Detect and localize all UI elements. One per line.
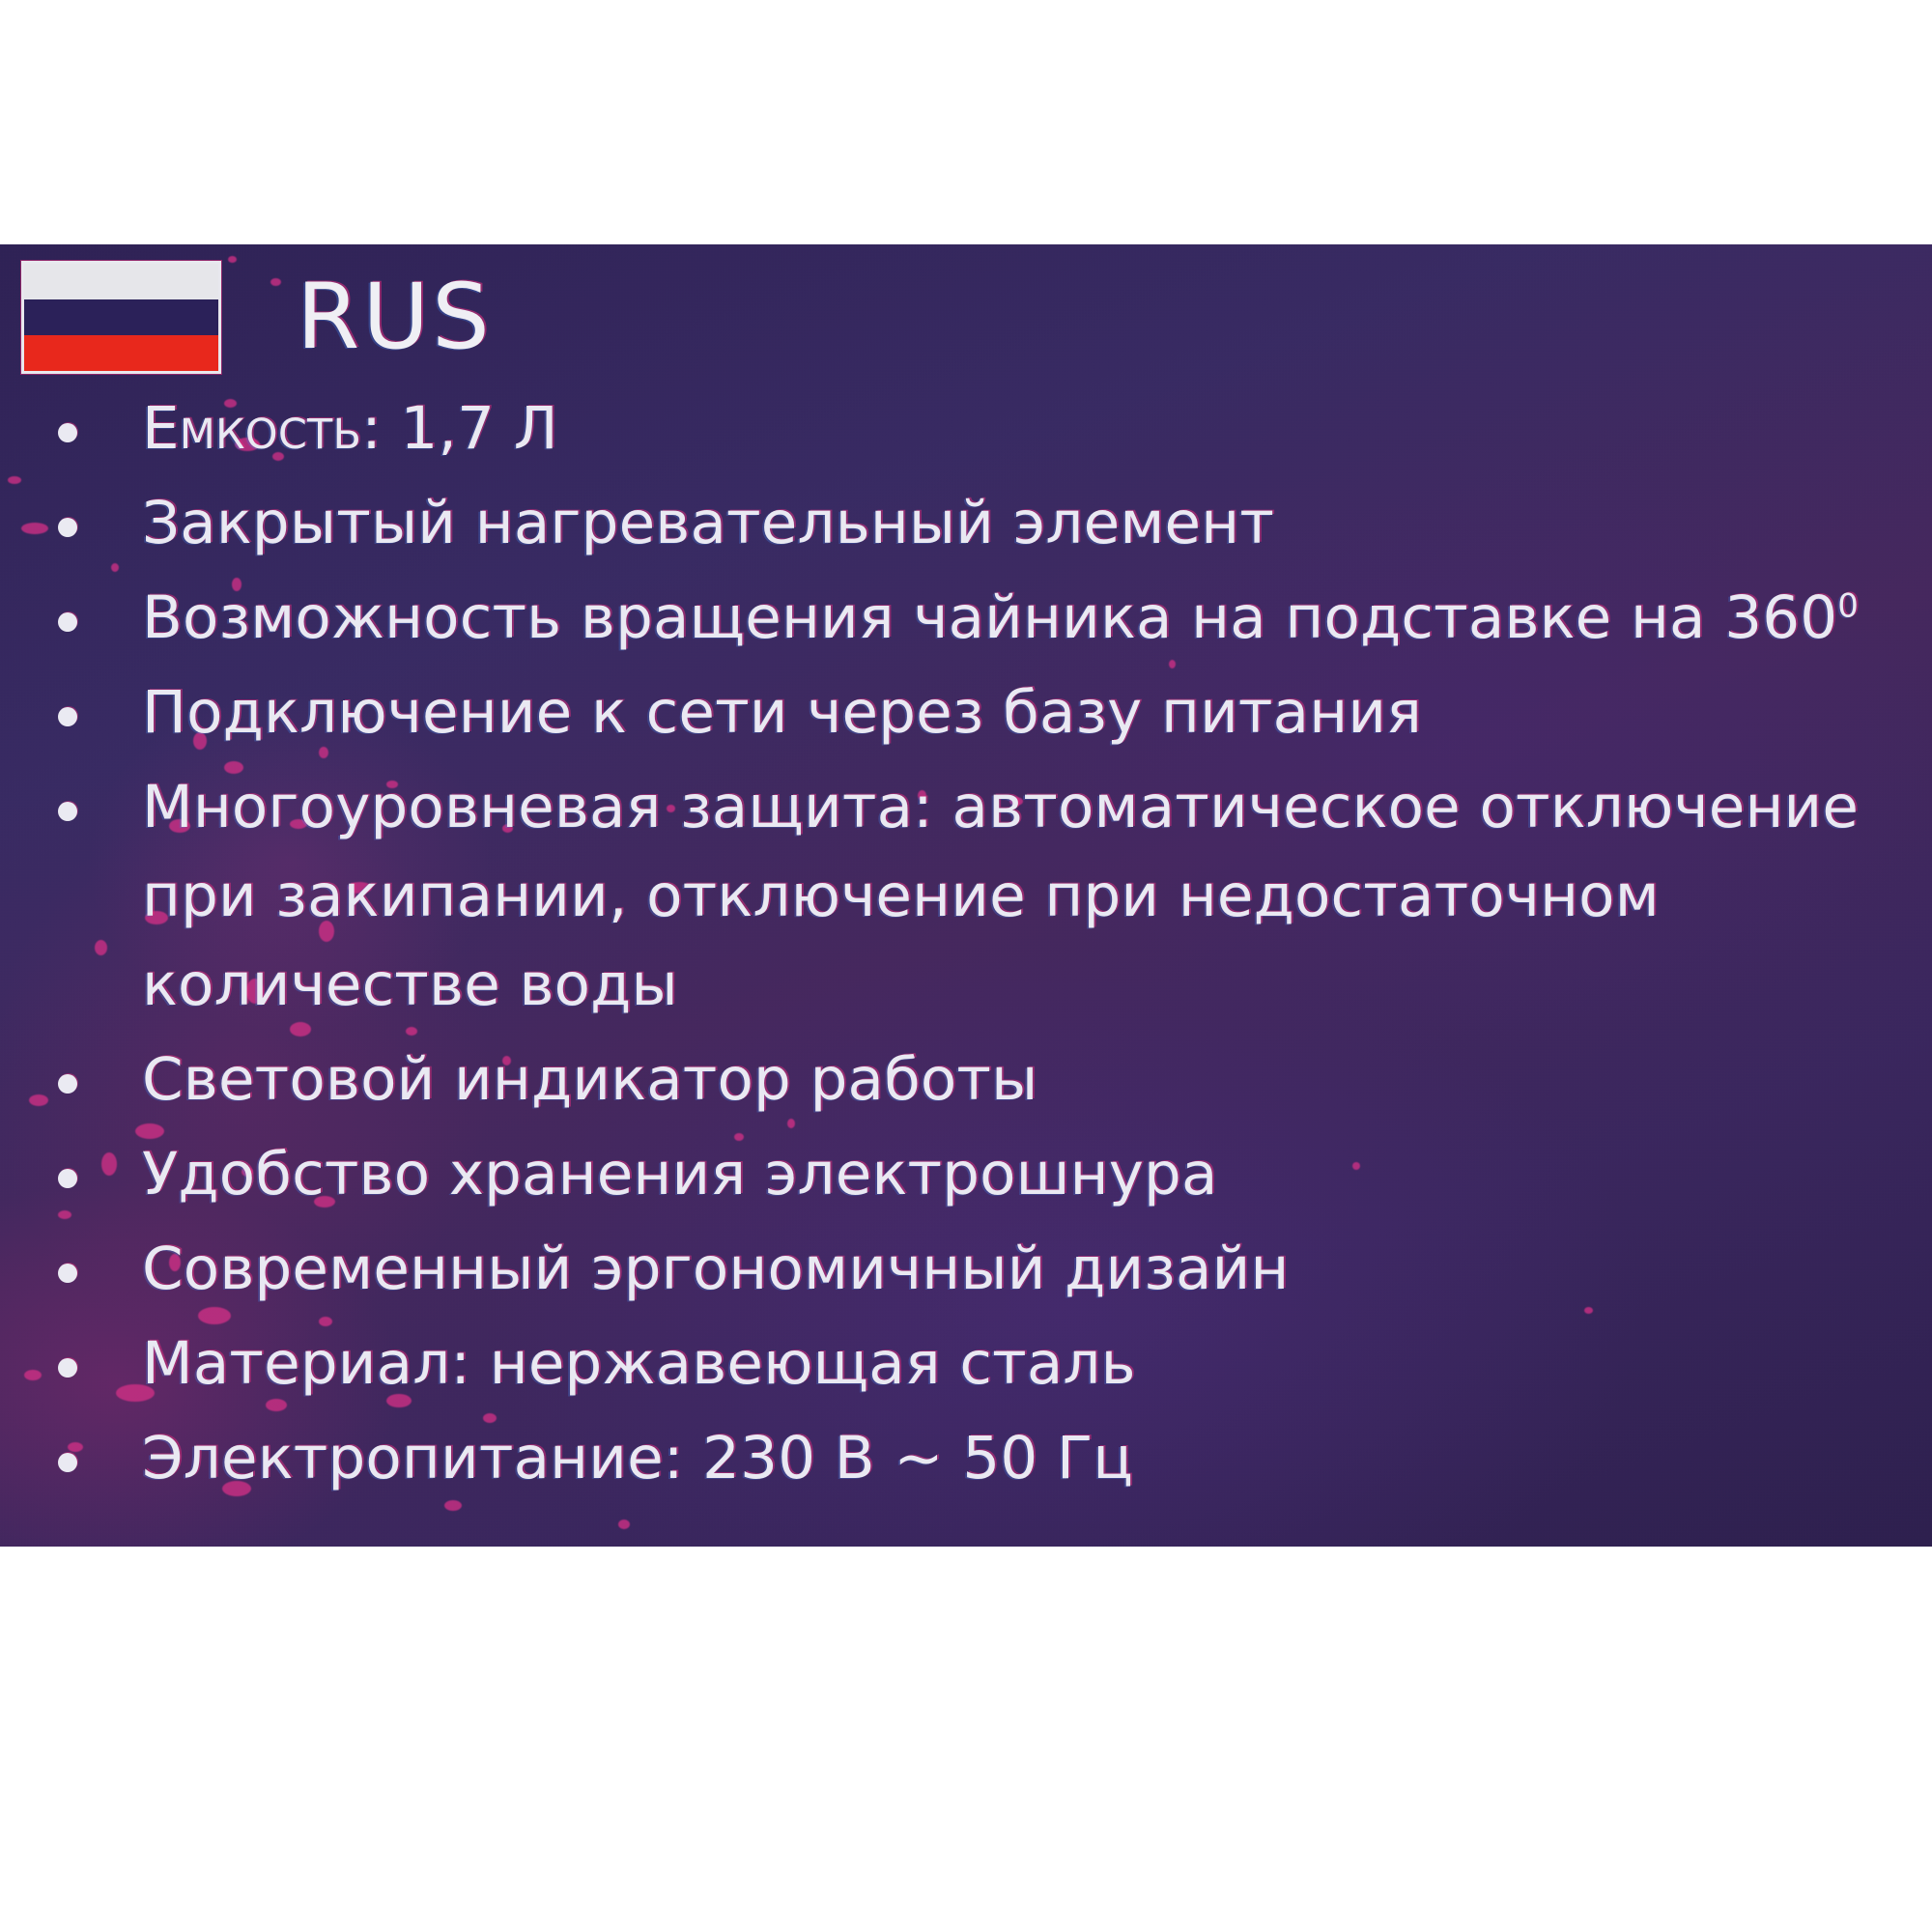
list-item: Емкость: 1,7 Л [21,384,1915,473]
language-code-label: RUS [297,272,493,363]
list-item: Современный эргономичный дизайн [21,1225,1915,1314]
list-item: Закрытый нагревательный элемент [21,479,1915,568]
flag-stripe-red [24,335,218,371]
flag-stripe-blue [24,299,218,335]
list-item: Световой индикатор работы [21,1036,1915,1124]
speckle [8,476,21,484]
spec-text: Световой индикатор работы [142,1045,1038,1114]
spec-text: Возможность вращения чайника на подставк… [142,583,1837,652]
spec-label-panel: RUS Емкость: 1,7 Л Закрытый нагревательн… [0,244,1932,1547]
spec-text: Материал: нержавеющая сталь [142,1329,1136,1398]
spec-text: Закрытый нагревательный элемент [142,489,1274,557]
speckle [618,1520,630,1529]
list-item: Удобство хранения электрошнура [21,1130,1915,1219]
list-item: Возможность вращения чайника на подставк… [21,574,1915,663]
spec-text: Емкость: 1,7 Л [142,394,558,463]
spec-text: Современный эргономичный дизайн [142,1235,1290,1303]
list-item: Материал: нержавеющая сталь [21,1320,1915,1408]
degree-superscript: 0 [1837,587,1859,626]
language-header: RUS [21,261,493,374]
list-item: Многоуровневая защита: автоматическое от… [21,763,1915,1030]
spec-text: Электропитание: 230 В ~ 50 Гц [142,1424,1133,1492]
russian-flag-icon [21,261,221,374]
spec-text: Многоуровневая защита: автоматическое от… [142,773,1859,1019]
list-item: Подключение к сети через базу питания [21,668,1915,757]
flag-stripe-white [24,264,218,299]
product-label-page: RUS Емкость: 1,7 Л Закрытый нагревательн… [0,0,1932,1932]
specification-list: Емкость: 1,7 Л Закрытый нагревательный э… [21,384,1915,1509]
spec-text: Подключение к сети через базу питания [142,678,1422,747]
list-item: Электропитание: 230 В ~ 50 Гц [21,1414,1915,1503]
spec-text: Удобство хранения электрошнура [142,1140,1218,1208]
